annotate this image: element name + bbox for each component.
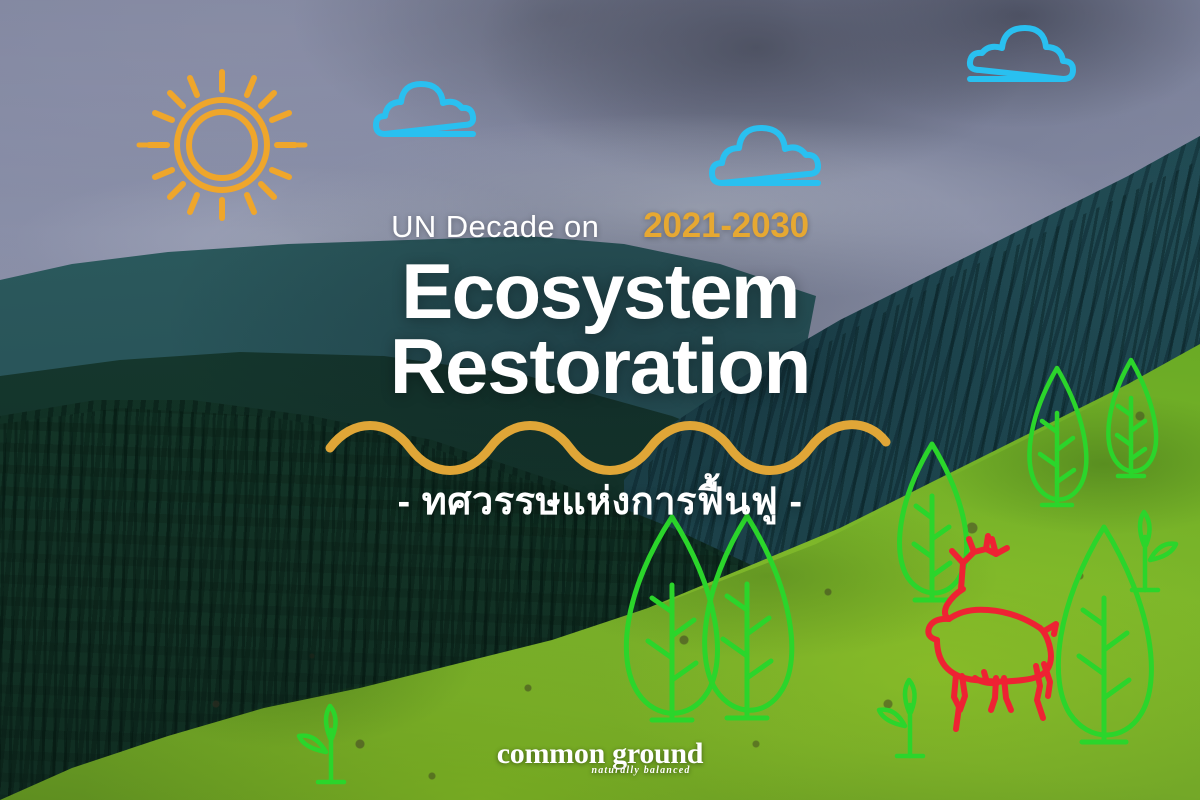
decade-years: 2021-2030 bbox=[643, 206, 809, 246]
eyebrow-text: UN Decade on bbox=[391, 209, 599, 245]
eyebrow-row: UN Decade on 2021-2030 bbox=[0, 206, 1200, 250]
poster-canvas: UN Decade on 2021-2030 Ecosystem Restora… bbox=[0, 0, 1200, 800]
tree-icon-1 bbox=[626, 517, 717, 720]
logo-tagline: naturally balanced bbox=[82, 766, 1200, 776]
tree-icon-3 bbox=[1058, 527, 1151, 742]
cloud-icon-left bbox=[376, 84, 473, 134]
headline-block: UN Decade on 2021-2030 Ecosystem Restora… bbox=[0, 206, 1200, 456]
cloud-icon-right bbox=[970, 28, 1073, 79]
cloud-icon-center bbox=[712, 128, 818, 183]
tree-icon-2 bbox=[705, 516, 792, 718]
page-title: Ecosystem Restoration bbox=[0, 254, 1200, 404]
thai-subtitle: - ทศวรรษแห่งการฟื้นฟู - bbox=[0, 470, 1200, 531]
title-line-2: Restoration bbox=[0, 329, 1200, 404]
sun-icon bbox=[139, 72, 305, 218]
brand-logo: common ground naturally balanced bbox=[0, 739, 1200, 776]
